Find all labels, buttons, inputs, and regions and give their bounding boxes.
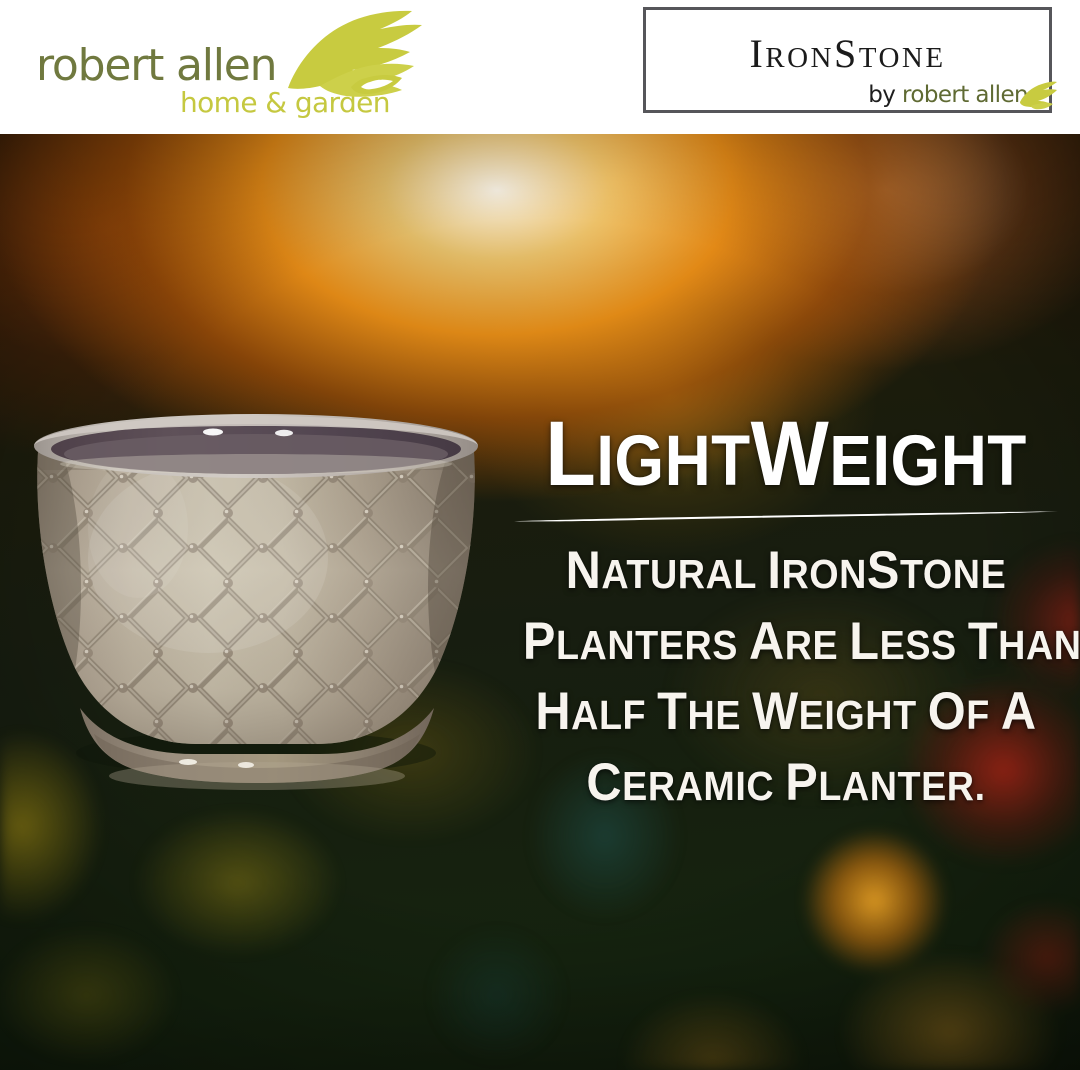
robert-allen-wordmark: robert allen xyxy=(36,40,276,91)
brush-stroke-divider xyxy=(512,508,1060,524)
marketing-image-canvas: robert allen home & garden IRONSTONE by … xyxy=(0,0,1080,1070)
body-line-2: PLANTERS ARE LESS THAN xyxy=(523,607,1049,677)
body-line-1: NATURAL IRONSTONE xyxy=(523,536,1049,606)
robert-allen-logo: robert allen home & garden xyxy=(14,6,414,124)
hero-photo: LIGHTWEIGHT NATURAL IRONSTONE PLANTERS A… xyxy=(0,134,1080,1070)
hero-text-block: LIGHTWEIGHT NATURAL IRONSTONE PLANTERS A… xyxy=(500,410,1072,818)
body-line-3: HALF THE WEIGHT OF A xyxy=(523,677,1049,747)
leaf-icon xyxy=(272,8,432,103)
ironstone-byline: by robert allen xyxy=(643,82,1028,108)
product-planter-image xyxy=(18,408,496,820)
ironstone-wordmark: IRONSTONE xyxy=(643,30,1052,77)
leaf-icon-small xyxy=(1018,80,1058,112)
body-copy: NATURAL IRONSTONE PLANTERS ARE LESS THAN… xyxy=(523,536,1049,818)
body-line-4: CERAMIC PLANTER. xyxy=(523,748,1049,818)
headline-lightweight: LIGHTWEIGHT xyxy=(529,410,1044,498)
header-logo-band: robert allen home & garden IRONSTONE by … xyxy=(0,0,1080,134)
